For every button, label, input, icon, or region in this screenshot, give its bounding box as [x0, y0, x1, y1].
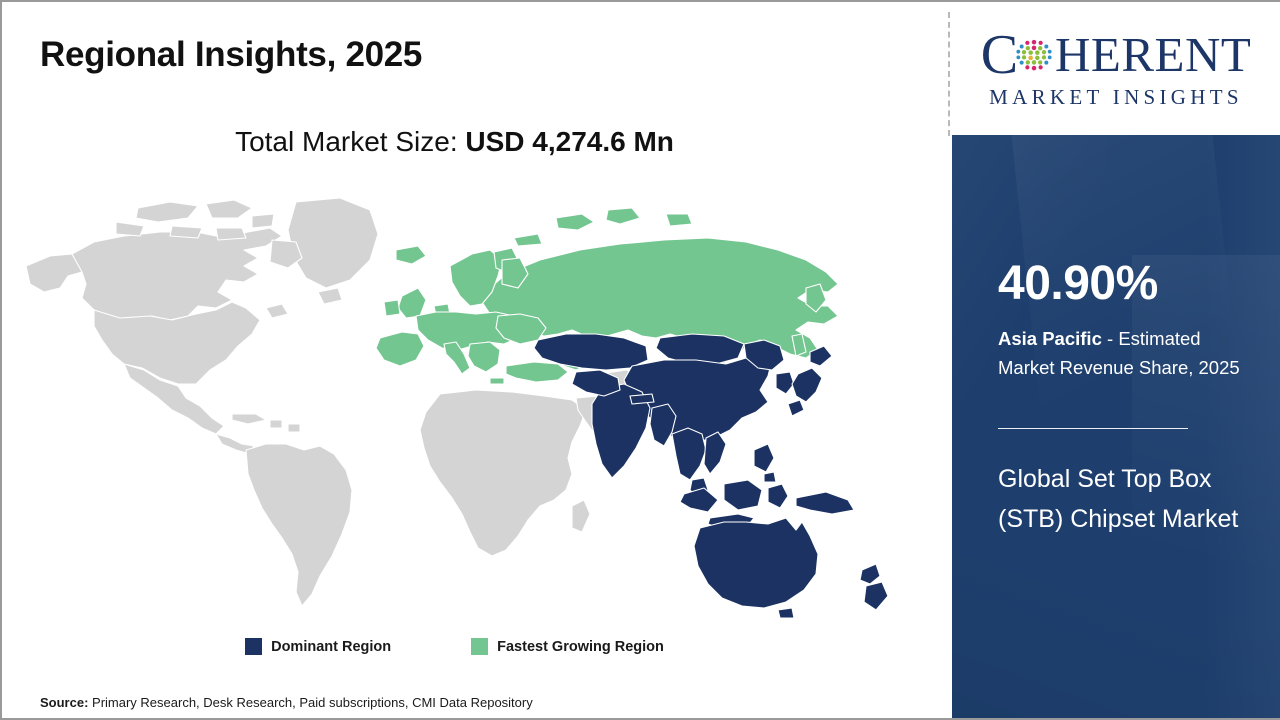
map-legend: Dominant Region Fastest Growing Region	[2, 638, 907, 655]
stat-sidebar-panel: 40.90% Asia Pacific - Estimated Market R…	[952, 135, 1280, 718]
stat-divider-rule	[998, 428, 1188, 429]
logo-subtitle: MARKET INSIGHTS	[989, 85, 1243, 110]
legend-item-fastest-growing[interactable]: Fastest Growing Region	[471, 638, 664, 655]
world-map	[20, 188, 900, 618]
brand-logo[interactable]: C	[952, 2, 1280, 135]
map-region-dominant	[534, 334, 888, 618]
left-content-panel: Regional Insights, 2025 Total Market Siz…	[2, 2, 950, 718]
source-label: Source:	[40, 695, 88, 710]
source-note: Source: Primary Research, Desk Research,…	[40, 695, 533, 710]
legend-label-fastest-growing: Fastest Growing Region	[497, 639, 664, 655]
legend-item-dominant[interactable]: Dominant Region	[245, 638, 391, 655]
stat-region-name: Asia Pacific	[998, 328, 1102, 349]
market-size-value: USD 4,274.6 Mn	[465, 126, 674, 157]
square-swatch-green-icon	[471, 638, 488, 655]
market-size-label: Total Market Size:	[235, 126, 458, 157]
square-swatch-navy-icon	[245, 638, 262, 655]
dotted-globe-icon	[1015, 36, 1053, 74]
legend-label-dominant: Dominant Region	[271, 639, 391, 655]
logo-wordmark: C	[981, 32, 1252, 78]
market-name: Global Set Top Box (STB) Chipset Market	[998, 460, 1248, 539]
logo-letter-c: C	[981, 32, 1018, 78]
infographic-root: Regional Insights, 2025 Total Market Siz…	[0, 0, 1280, 720]
source-text: Primary Research, Desk Research, Paid su…	[88, 695, 532, 710]
stat-description: Asia Pacific - Estimated Market Revenue …	[998, 325, 1244, 382]
logo-wordmark-rest: HERENT	[1055, 32, 1251, 78]
total-market-size: Total Market Size: USD 4,274.6 Mn	[2, 126, 907, 158]
world-map-svg	[20, 188, 900, 618]
vertical-dashed-divider	[948, 12, 950, 136]
page-title: Regional Insights, 2025	[40, 35, 422, 75]
stat-percentage: 40.90%	[998, 260, 1158, 308]
panel-texture-4	[1202, 135, 1280, 718]
